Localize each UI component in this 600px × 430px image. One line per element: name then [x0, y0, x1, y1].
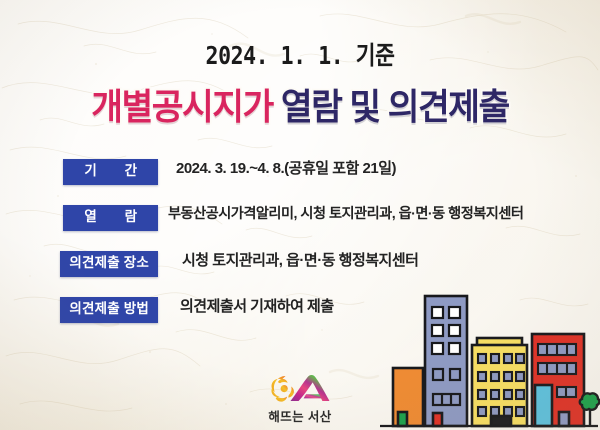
poster-canvas: 2024. 1. 1. 기준 개별공시지가 열람 및 의견제출 기 간 2024…: [0, 0, 600, 430]
sun-and-mountain-icon: [269, 372, 331, 404]
cityscape-illustration: [378, 286, 600, 430]
info-row-value-submission-place: 시청 토지관리과, 읍·면·동 행정복지센터: [182, 251, 418, 271]
cityscape-svg: [378, 286, 600, 430]
info-row-value-viewing: 부동산공시가격알리미, 시청 토지관리과, 읍·면·동 행정복지센터: [168, 205, 523, 224]
info-row-label-submission-method: 의견제출 방법: [60, 297, 158, 323]
headline-part-2: 열람 및 의견제출: [281, 86, 509, 127]
red-building: [532, 334, 584, 426]
gray-tower: [425, 296, 467, 426]
info-row-label-submission-place: 의견제출 장소: [60, 251, 158, 277]
info-row: 기 간 2024. 3. 19.~4. 8.(공휴일 포함 21일): [0, 155, 600, 201]
city-logo-text: 해뜨는 서산: [246, 406, 354, 425]
info-row-label-period: 기 간: [63, 159, 158, 185]
headline-part-1: 개별공시지가: [91, 86, 273, 127]
headline-space: [273, 86, 281, 127]
info-row-label-viewing: 열 람: [63, 205, 158, 231]
info-row: 열 람 부동산공시가격알리미, 시청 토지관리과, 읍·면·동 행정복지센터: [0, 201, 600, 247]
orange-building: [393, 368, 423, 426]
poster-kicker: 2024. 1. 1. 기준: [42, 36, 558, 72]
info-row-value-submission-method: 의견제출서 기재하여 제출: [180, 297, 334, 317]
info-row-value-period: 2024. 3. 19.~4. 8.(공휴일 포함 21일): [176, 159, 396, 179]
poster-headline: 개별공시지가 열람 및 의견제출: [12, 78, 588, 130]
city-logo: 해뜨는 서산: [246, 372, 354, 428]
yellow-building: [472, 338, 527, 426]
